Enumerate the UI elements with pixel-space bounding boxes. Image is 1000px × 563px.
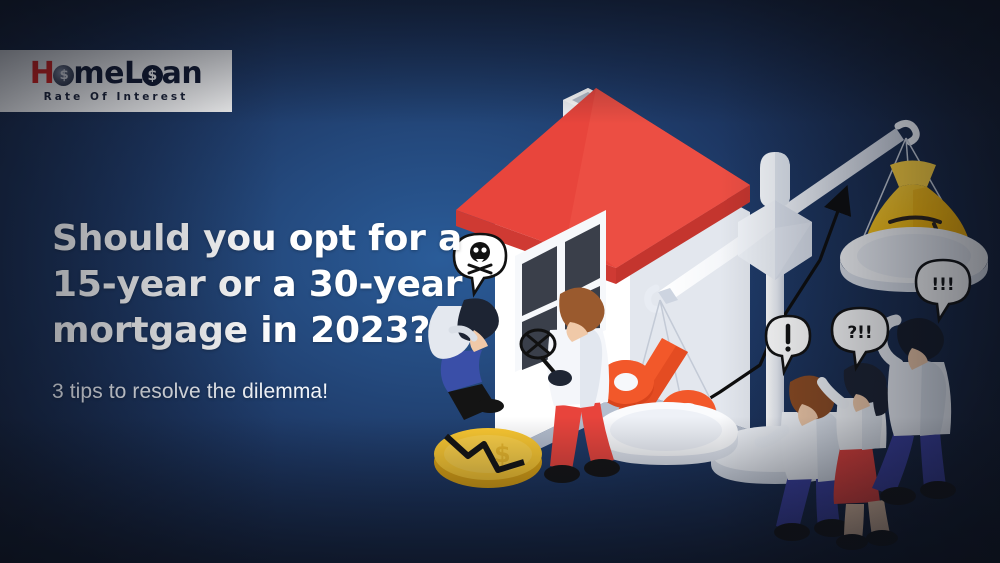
promo-banner: HmeLan Rate Of Interest Should you opt f… <box>0 0 1000 563</box>
svg-text:$: $ <box>494 440 511 468</box>
bubble-question: ?!! <box>832 308 888 368</box>
logo[interactable]: HmeLan Rate Of Interest <box>0 50 232 112</box>
logo-an: an <box>162 56 203 91</box>
logo-wordmark: HmeLan <box>30 59 202 89</box>
headline: Should you opt for a 15-year or a 30-yea… <box>52 216 482 354</box>
logo-h: H <box>30 56 55 91</box>
bubble-exclaim-right: !!! <box>916 260 970 320</box>
logo-l: L <box>124 56 143 91</box>
logo-dollar-o-icon <box>142 65 163 86</box>
logo-globe-o-icon <box>53 65 74 86</box>
logo-me: me <box>73 56 124 91</box>
headline-line-2: 15-year or a 30-year <box>52 262 482 308</box>
headline-line-1: Should you opt for a <box>52 216 482 262</box>
svg-text:?!!: ?!! <box>847 323 872 343</box>
logo-tagline: Rate Of Interest <box>44 91 189 103</box>
svg-text:!!!: !!! <box>931 275 954 295</box>
cracked-coin-icon: $ <box>434 428 542 488</box>
subheadline: 3 tips to resolve the dilemma! <box>52 380 482 404</box>
headline-line-3: mortgage in 2023? <box>52 308 482 354</box>
copy-block: Should you opt for a 15-year or a 30-yea… <box>52 216 482 404</box>
illustration: $ <box>420 0 1000 563</box>
